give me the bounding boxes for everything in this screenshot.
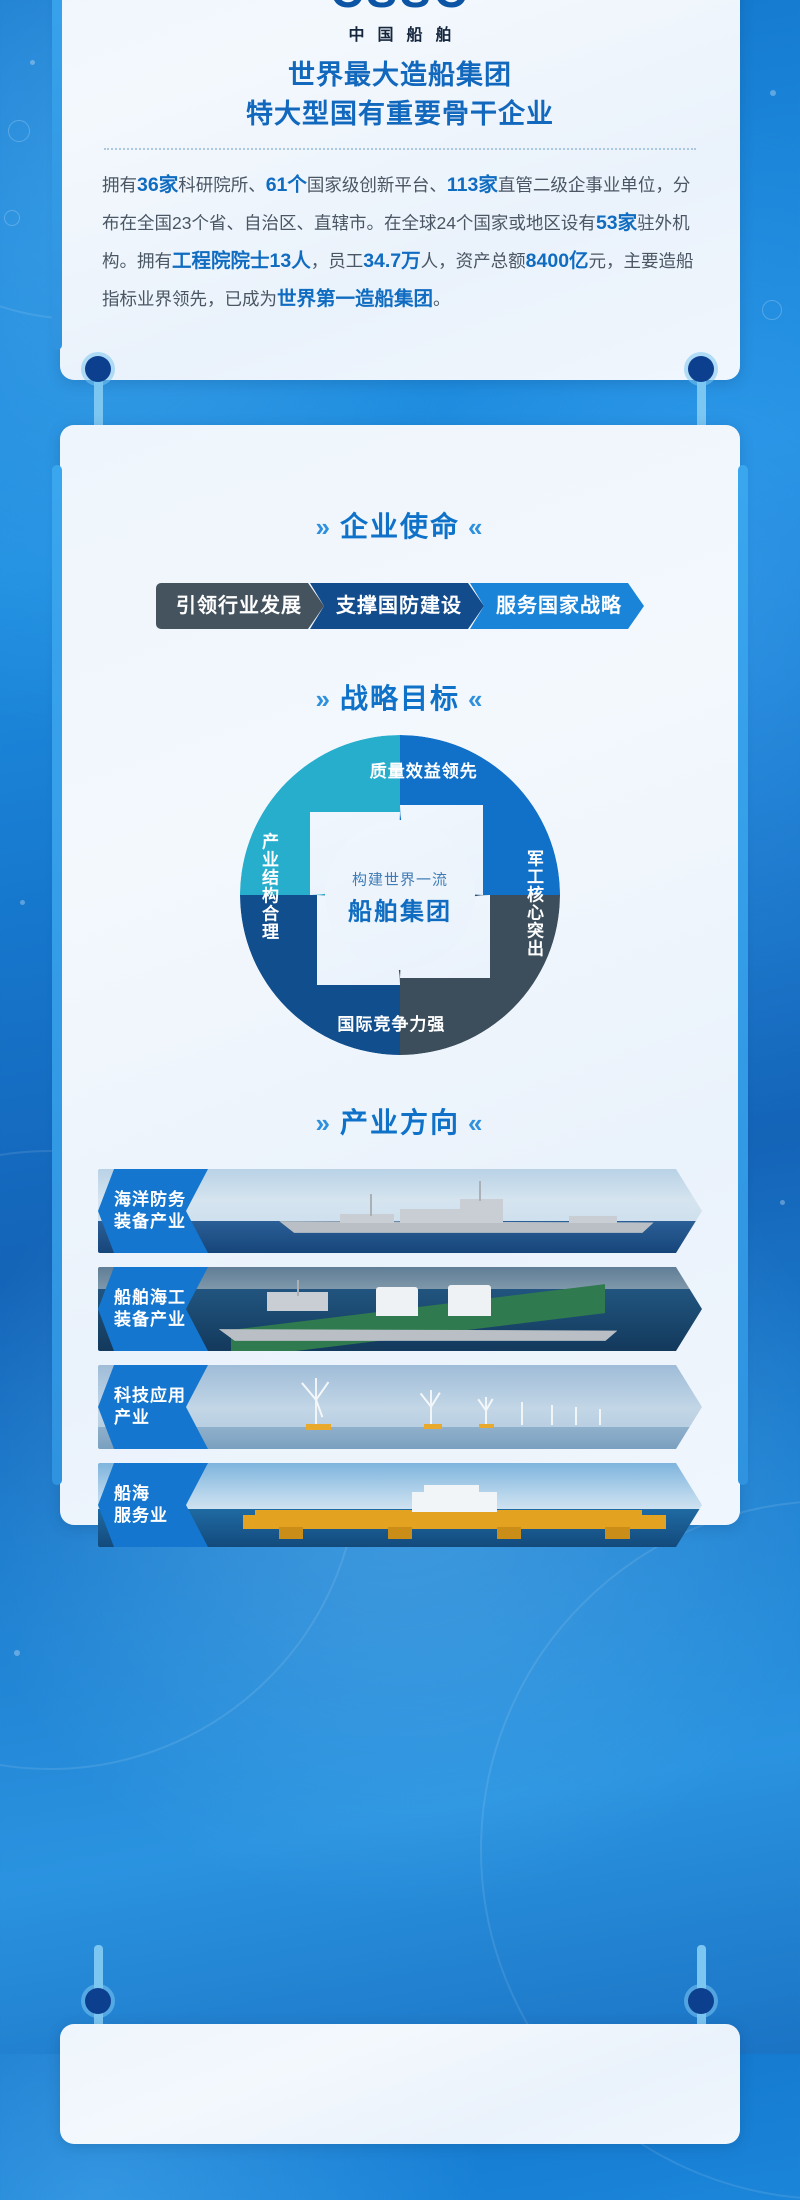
hero-stat-highlight: 113家 xyxy=(447,174,498,196)
section-title-strategy-label: 战略目标 xyxy=(340,683,460,714)
donut-label-left: 产业结构合理 xyxy=(256,832,281,940)
card-right-rail xyxy=(738,465,748,1485)
section-title-strategy: »战略目标« xyxy=(60,677,740,717)
hero-paragraph: 拥有36家科研院所、61个国家级创新平台、113家直管二级企事业单位，分布在全国… xyxy=(102,166,698,318)
industry-list: 海洋防务装备产业 船舶海工装备产业 科技应用产业 船海服务业 xyxy=(60,1169,740,1547)
background-dot xyxy=(20,900,25,905)
brand-logo: CSSC 中国船舶 xyxy=(60,0,740,45)
connector-dot-top-right xyxy=(688,356,714,382)
mission-chevron-2[interactable]: 支撑国防建设 xyxy=(310,583,484,629)
chevron-right-icon: « xyxy=(460,512,492,542)
connector-dot-top-left xyxy=(85,356,111,382)
section-title-mission-label: 企业使命 xyxy=(340,511,460,542)
page-headline-line2: 特大型国有重要骨干企业 xyxy=(60,95,740,134)
donut-center-big: 船舶集团 xyxy=(320,891,480,926)
background-bubble xyxy=(762,300,782,320)
donut-center-small: 构建世界一流 xyxy=(320,868,480,889)
mission-chevron-3[interactable]: 服务国家战略 xyxy=(470,583,644,629)
footer-card xyxy=(60,2024,740,2144)
section-title-industry-label: 产业方向 xyxy=(340,1107,460,1138)
section-title-industry: »产业方向« xyxy=(60,1101,740,1141)
hero-text-run: 科研院所、 xyxy=(178,175,266,195)
industry-row[interactable]: 船舶海工装备产业 xyxy=(98,1267,702,1351)
logo-subtitle: 中国船舶 xyxy=(60,21,740,45)
background-dot xyxy=(780,1200,785,1205)
donut-label-right: 军工核心突出 xyxy=(521,850,546,958)
content-card: »企业使命« 引领行业发展支撑国防建设服务国家战略 »战略目标« 质量效益领先 … xyxy=(60,425,740,1525)
connector-dot-bottom-right xyxy=(688,1988,714,2014)
divider-dotted xyxy=(104,148,696,150)
chevron-left-icon: » xyxy=(308,1108,340,1138)
industry-row[interactable]: 海洋防务装备产业 xyxy=(98,1169,702,1253)
donut-label-bottom: 国际竞争力强 xyxy=(337,1010,445,1035)
hero-stat-highlight: 世界第一造船集团 xyxy=(277,288,433,310)
chevron-left-icon: » xyxy=(308,684,340,714)
strategy-donut-chart: 质量效益领先 军工核心突出 国际竞争力强 产业结构合理 构建世界一流 船舶集团 xyxy=(240,735,560,1055)
logo-mark: CSSC xyxy=(330,0,470,14)
mission-chevron-1[interactable]: 引领行业发展 xyxy=(156,583,324,629)
hero-text-run: 。 xyxy=(433,289,451,309)
chevron-right-icon: « xyxy=(460,1108,492,1138)
hero-text-run: 国家级创新平台、 xyxy=(307,175,447,195)
hero-stat-highlight: 8400亿 xyxy=(526,250,589,272)
hero-stat-highlight: 34.7万 xyxy=(363,250,420,272)
hero-stat-highlight: 36家 xyxy=(137,174,178,196)
mission-chevron-row: 引领行业发展支撑国防建设服务国家战略 xyxy=(60,583,740,629)
hero-stat-highlight: 工程院院士13人 xyxy=(172,250,311,272)
background-dot xyxy=(770,90,776,96)
donut-label-top: 质量效益领先 xyxy=(370,757,478,782)
hero-stat-highlight: 53家 xyxy=(596,212,637,234)
card-left-rail xyxy=(52,465,62,1485)
section-title-mission: »企业使命« xyxy=(60,505,740,545)
industry-row[interactable]: 科技应用产业 xyxy=(98,1365,702,1449)
hero-text-run: ，员工 xyxy=(311,251,364,271)
hero-stat-highlight: 61个 xyxy=(266,174,307,196)
chevron-right-icon: « xyxy=(460,684,492,714)
hero-text-run: 人，资产总额 xyxy=(421,251,526,271)
industry-row[interactable]: 船海服务业 xyxy=(98,1463,702,1547)
connector-dot-bottom-left xyxy=(85,1988,111,2014)
hero-text-run: 拥有 xyxy=(102,175,137,195)
hero-card: CSSC 中国船舶 世界最大造船集团 特大型国有重要骨干企业 拥有36家科研院所… xyxy=(60,0,740,380)
page-headline-line1: 世界最大造船集团 xyxy=(60,56,740,95)
donut-center-text: 构建世界一流 船舶集团 xyxy=(320,868,480,926)
chevron-left-icon: » xyxy=(308,512,340,542)
